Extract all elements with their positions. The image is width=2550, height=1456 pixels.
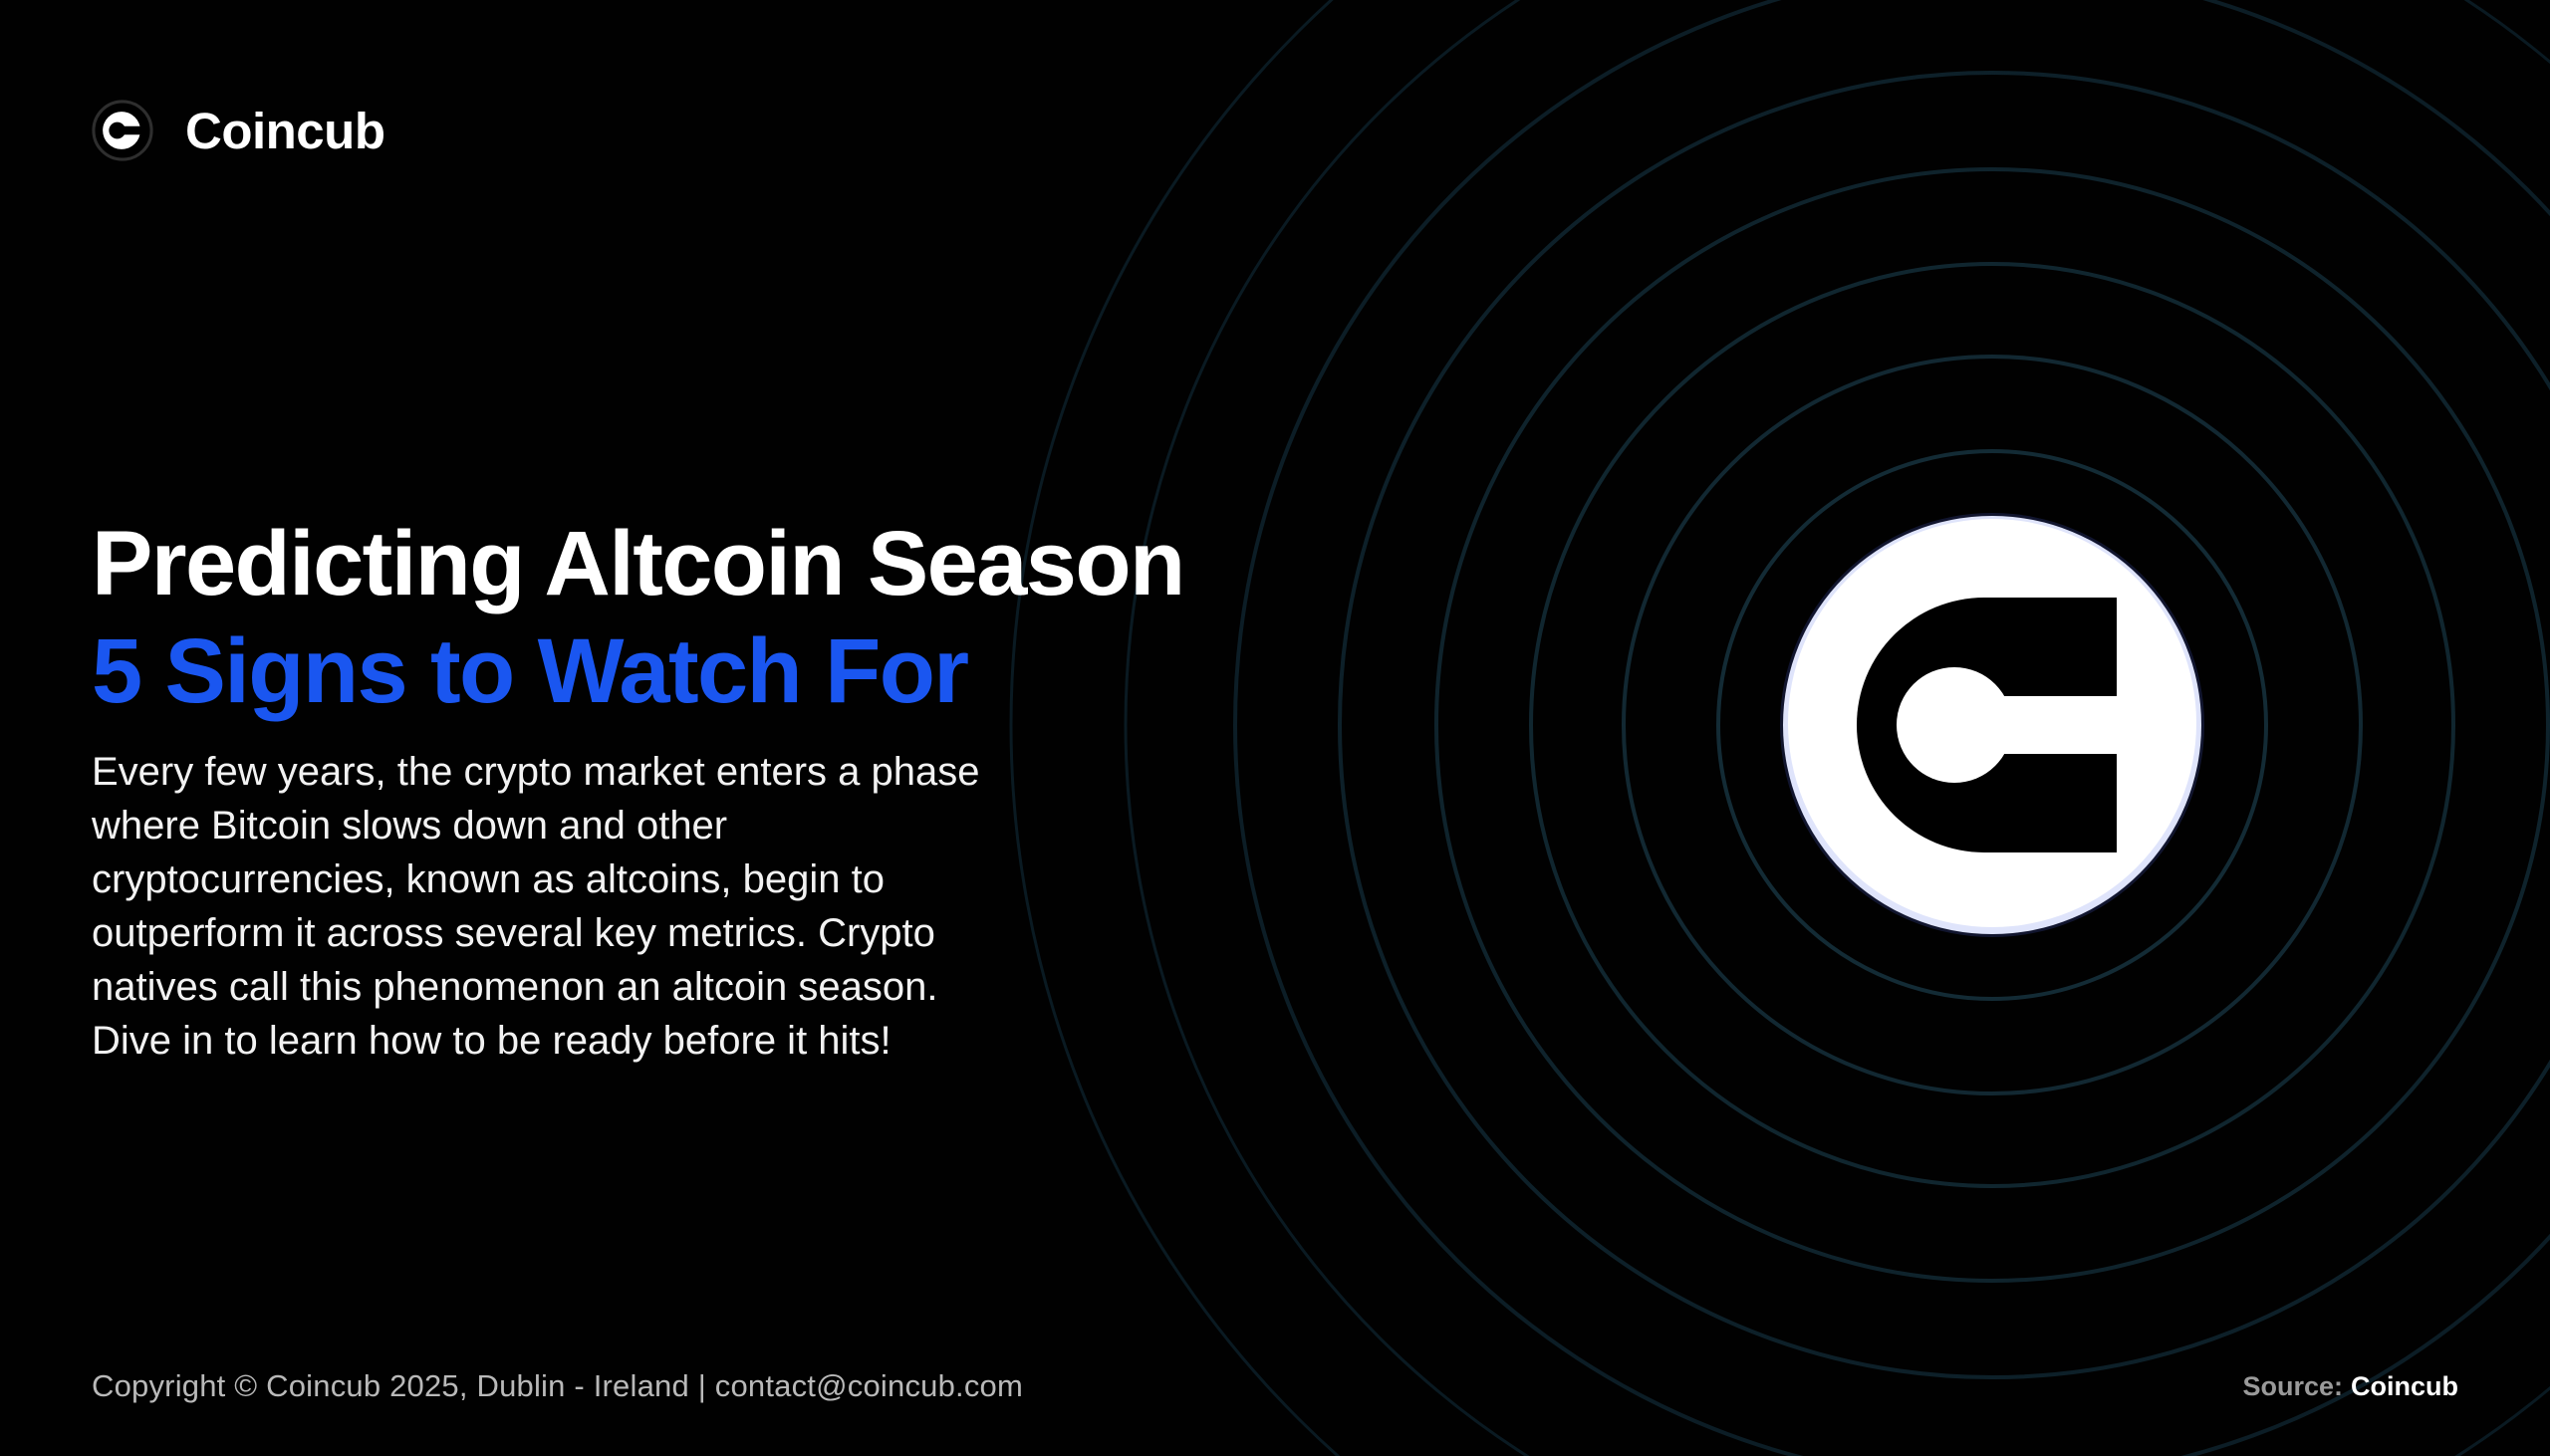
page-subtitle-accent: 5 Signs to Watch For — [92, 625, 1307, 719]
coincub-c-mark-icon — [1778, 511, 2206, 939]
source-value: Coincub — [2351, 1371, 2458, 1401]
hero-description: Every few years, the crypto market enter… — [92, 745, 1008, 1068]
footer-source: Source:Coincub — [2242, 1371, 2458, 1402]
brand-header[interactable]: Coincub — [92, 100, 384, 161]
coincub-c-mark-icon — [92, 100, 153, 161]
page-title: Predicting Altcoin Season — [92, 518, 1307, 611]
brand-wordmark: Coincub — [185, 106, 384, 156]
source-label: Source: — [2242, 1371, 2343, 1401]
footer-copyright: Copyright © Coincub 2025, Dublin - Irela… — [92, 1368, 1023, 1404]
hero-copy-block: Predicting Altcoin Season 5 Signs to Wat… — [92, 518, 1307, 1068]
poster-canvas: Coincub Predicting Altcoin Season 5 Sign… — [0, 0, 2550, 1456]
